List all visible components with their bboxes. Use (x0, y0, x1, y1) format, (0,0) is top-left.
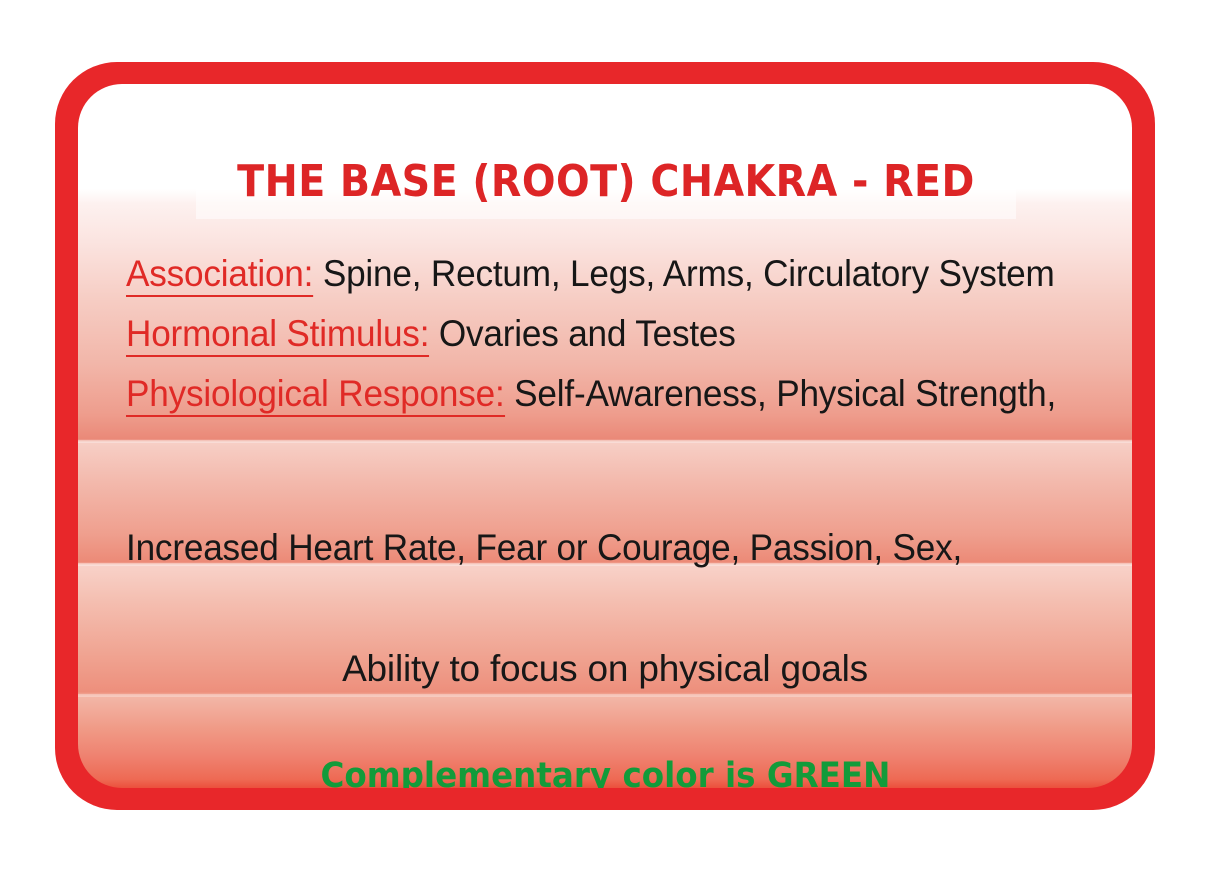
attribute-label-hormonal-stimulus: Hormonal Stimulus: (126, 313, 429, 357)
card-gradient-panel: THE BASE (ROOT) CHAKRA - RED Association… (78, 84, 1132, 788)
chakra-attribute-list: Association: Spine, Rectum, Legs, Arms, … (126, 244, 1116, 424)
complementary-color-note: Complementary color is GREEN (78, 756, 1132, 788)
attribute-row-physiological-response: Physiological Response: Self-Awareness, … (126, 364, 1067, 424)
physiological-response-continuation-line-2: Ability to focus on physical goals (78, 642, 1132, 696)
attribute-value-association: Spine, Rectum, Legs, Arms, Circulatory S… (313, 253, 1054, 294)
page-title: THE BASE (ROOT) CHAKRA - RED (237, 142, 975, 220)
attribute-value-hormonal-stimulus: Ovaries and Testes (429, 313, 735, 354)
attribute-value-physiological-response: Self-Awareness, Physical Strength, (505, 373, 1056, 414)
complementary-color-note-text: Complementary color is GREEN (320, 756, 890, 788)
attribute-label-association: Association: (126, 253, 313, 297)
attribute-label-physiological-response: Physiological Response: (126, 373, 505, 417)
chakra-info-card-stage: THE BASE (ROOT) CHAKRA - RED Association… (0, 0, 1230, 870)
card-red-border-frame: THE BASE (ROOT) CHAKRA - RED Association… (55, 62, 1155, 810)
physiological-response-continuation-line-1: Increased Heart Rate, Fear or Courage, P… (126, 521, 1076, 575)
attribute-row-hormonal-stimulus: Hormonal Stimulus: Ovaries and Testes (126, 304, 1067, 364)
attribute-row-association: Association: Spine, Rectum, Legs, Arms, … (126, 244, 1067, 304)
gradient-band-seam-1 (78, 440, 1132, 443)
